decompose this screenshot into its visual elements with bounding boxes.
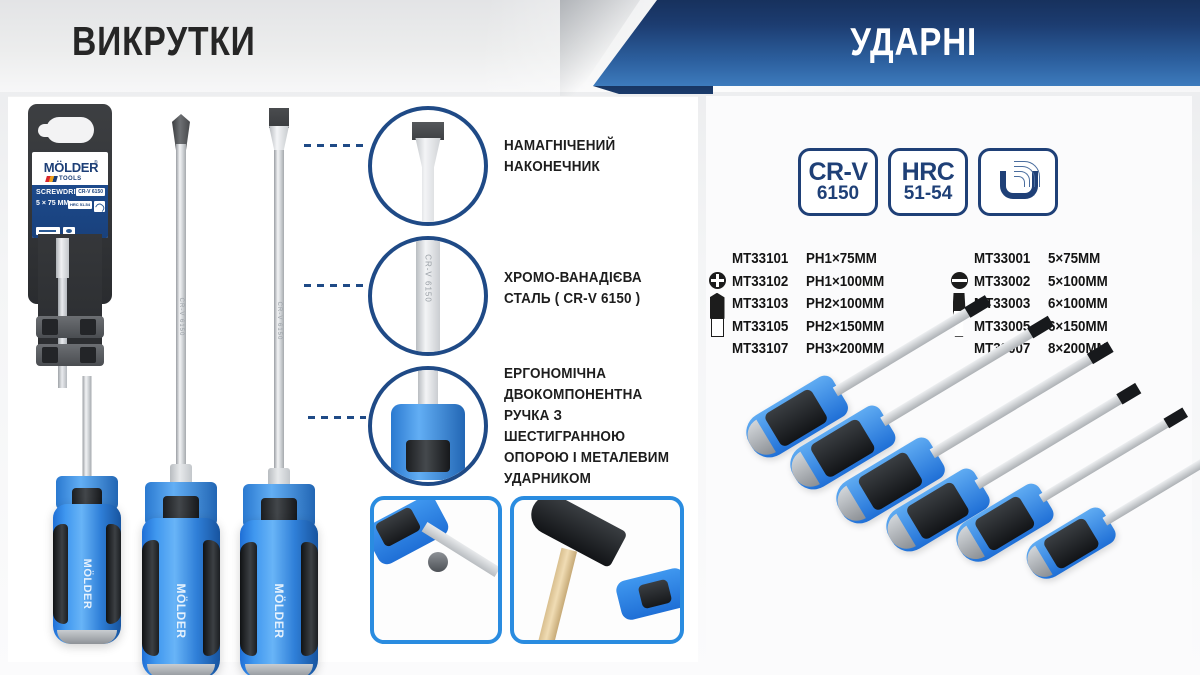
photo-screw	[428, 552, 448, 572]
callout-line: ОПОРОЮ І МЕТАЛЕВИМ	[504, 448, 684, 469]
product-size: 5×75MM	[1048, 248, 1100, 271]
screwdriver-slotted: CR-V 6150 MÖLDER	[233, 108, 325, 656]
leader-line-2	[304, 284, 366, 287]
badge-hrc-line2: 51-54	[904, 184, 953, 204]
tools-label: TOOLS	[59, 176, 82, 182]
zoom-grip-pad	[406, 440, 450, 472]
zoom-slotted-tip	[412, 122, 444, 140]
handle: MÖLDER	[240, 520, 318, 675]
photo-hammer-head	[524, 496, 628, 568]
clamp-pad	[42, 347, 58, 363]
zoom-shaft	[413, 138, 443, 224]
badge-crv-line1: CR-V	[808, 160, 867, 184]
handle-logo: MÖLDER	[272, 584, 286, 639]
shaft-engraving: CR-V 6150	[276, 302, 282, 341]
table-row: MT33103 PH2×100MM	[732, 293, 891, 316]
trademark-symbol: ®	[94, 160, 98, 166]
product-code: MT33103	[732, 293, 800, 316]
clamp-pad	[80, 319, 96, 335]
badge-hrc-line1: HRC	[902, 160, 955, 184]
callout-line: НАКОНЕЧНИК	[504, 157, 615, 178]
flag-icon	[45, 176, 58, 182]
left-content-panel: MÖLDER ® TOOLS SCREWDRIVER 5 × 75 MM CR-…	[8, 96, 698, 662]
blister-clamp-top	[36, 316, 104, 338]
callout-circle-crv-steel: CR-V 6150	[368, 236, 488, 356]
product-code: MT33107	[732, 338, 800, 361]
blister-package: MÖLDER ® TOOLS SCREWDRIVER 5 × 75 MM CR-…	[28, 104, 112, 364]
badge-magnetic	[978, 148, 1058, 216]
slotted-tip	[269, 108, 289, 128]
badge-hrc: HRC 51-54	[888, 148, 968, 216]
strike-cap	[147, 664, 215, 675]
product-code: MT33101	[732, 248, 800, 271]
tools-lockup: TOOLS	[46, 176, 82, 182]
package-crv-badge: CR-V 6150	[76, 188, 105, 196]
table-row: MT33102 PH1×100MM	[732, 271, 891, 294]
magnet-wave	[1014, 161, 1040, 187]
zoom-shaft-engraving: CR-V 6150	[424, 254, 433, 303]
callout-circle-ergonomic-handle	[368, 366, 488, 486]
phillips-head-icon	[709, 272, 726, 289]
page-title-right: УДАРНІ	[593, 0, 1200, 86]
zoom-shaft	[418, 368, 438, 408]
product-code: MT33105	[732, 316, 800, 339]
callout-line: ХРОМО-ВАНАДІЄВА	[504, 268, 642, 289]
callout-line: ДВОКОМПОНЕНТНА	[504, 385, 684, 406]
handle-logo: MÖLDER	[174, 584, 188, 639]
package-magnet-icon	[94, 201, 105, 212]
photo-hammer-handle	[535, 548, 577, 644]
set-tip	[1027, 316, 1054, 339]
callout-circle-magnetized-tip	[368, 106, 488, 226]
spec-badge-group: CR-V 6150 HRC 51-54	[798, 148, 1058, 216]
euro-hole	[46, 117, 94, 143]
strike-cap	[245, 664, 313, 675]
package-info-band: SCREWDRIVER 5 × 75 MM CR-V 6150 HRC 51-5…	[32, 185, 108, 238]
product-size: PH1×75MM	[806, 248, 877, 271]
callout-text-ergonomic-handle: ЕРГОНОМІЧНА ДВОКОМПОНЕНТНА РУЧКА З ШЕСТИ…	[504, 364, 698, 490]
screwdriver-phillips: CR-V 6150 MÖLDER	[136, 114, 226, 654]
usage-photo-driving	[370, 496, 502, 644]
slotted-taper	[269, 126, 289, 152]
clamp-pad	[42, 319, 58, 335]
handle: MÖLDER	[53, 504, 121, 644]
callout-line: НАМАГНІЧЕНИЙ	[504, 136, 615, 157]
handle-side-grip	[53, 524, 68, 625]
screwdriver-set-photo	[726, 396, 1196, 646]
magnet-icon	[998, 165, 1038, 199]
handle-side-grip	[301, 542, 318, 656]
callout-line: СТАЛЬ ( CR-V 6150 )	[504, 289, 642, 310]
page-title-left: ВИКРУТКИ	[72, 18, 256, 65]
blister-clamp-bottom	[36, 344, 104, 366]
promo-page: ВИКРУТКИ УДАРНІ MÖLDER ® TOOLS SCREW	[0, 0, 1200, 675]
leader-line-1	[304, 144, 366, 147]
package-label: MÖLDER ® TOOLS SCREWDRIVER 5 × 75 MM CR-…	[32, 152, 108, 238]
bit-dark	[710, 293, 725, 319]
product-size: PH2×100MM	[806, 293, 884, 316]
package-hrc-badge: HRC 51-54	[68, 201, 92, 209]
page-title-right-text: УДАРНІ	[850, 21, 977, 65]
badge-crv-line2: 6150	[817, 184, 859, 204]
product-code: MT33102	[732, 271, 800, 294]
blister-tip	[56, 238, 69, 278]
handle-side-grip	[106, 524, 121, 625]
screwdriver-stubby: MÖLDER	[44, 376, 130, 646]
product-size: PH1×100MM	[806, 271, 884, 294]
callout-text-magnetized-tip: НАМАГНІЧЕНИЙ НАКОНЕЧНИК	[504, 136, 624, 178]
handle-side-grip	[203, 540, 220, 655]
table-row: MT33101 PH1×75MM	[732, 248, 891, 271]
handle: MÖLDER	[142, 518, 220, 675]
phillips-bit-icon	[702, 248, 732, 361]
callout-line: ЕРГОНОМІЧНА	[504, 364, 684, 385]
strike-cap	[57, 630, 117, 644]
handle-logo: MÖLDER	[81, 559, 93, 610]
handle-side-grip	[142, 540, 159, 655]
product-size: 5×100MM	[1048, 271, 1108, 294]
set-tip	[1163, 407, 1188, 428]
leader-line-3	[308, 416, 366, 419]
right-content-panel: CR-V 6150 HRC 51-54	[706, 96, 1192, 662]
shaft	[83, 376, 92, 486]
callout-line: РУЧКА З ШЕСТИГРАННОЮ	[504, 406, 684, 448]
badge-crv: CR-V 6150	[798, 148, 878, 216]
callout-line: УДАРНИКОМ	[504, 469, 684, 490]
bit-light	[711, 318, 724, 337]
handle-side-grip	[240, 542, 257, 656]
phillips-bit-profile-icon	[710, 293, 725, 337]
header-ribbon: УДАРНІ	[593, 0, 1200, 86]
usage-photo-hammering	[510, 496, 684, 644]
package-size: 5 × 75 MM	[36, 200, 69, 207]
usage-photo-group	[370, 496, 684, 644]
shaft-engraving: CR-V 6150	[178, 298, 184, 337]
table-row: MT33001 5×75MM	[974, 248, 1113, 271]
callout-text-crv-steel: ХРОМО-ВАНАДІЄВА СТАЛЬ ( CR-V 6150 )	[504, 268, 652, 310]
clamp-pad	[80, 347, 96, 363]
